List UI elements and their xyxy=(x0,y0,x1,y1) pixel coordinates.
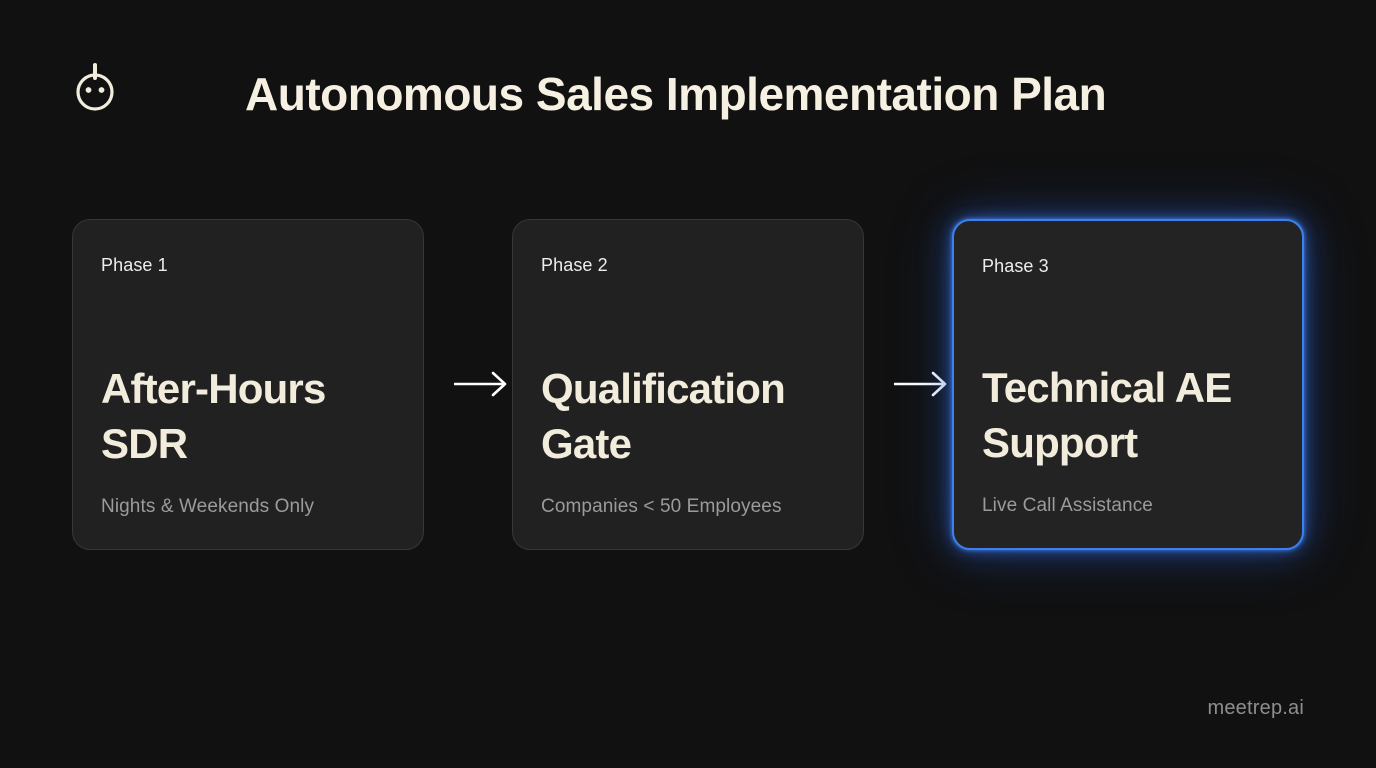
slide-root: Autonomous Sales Implementation Plan Pha… xyxy=(0,0,1376,768)
phase-label: Phase 2 xyxy=(541,254,835,276)
arrow-right-icon xyxy=(452,369,512,399)
arrow-right-icon xyxy=(892,369,952,399)
phase-subtitle: Companies < 50 Employees xyxy=(541,495,835,519)
phase-flow: Phase 1 After-Hours SDR Nights & Weekend… xyxy=(72,219,1304,550)
page-title: Autonomous Sales Implementation Plan xyxy=(245,63,1106,125)
phase-card-1[interactable]: Phase 1 After-Hours SDR Nights & Weekend… xyxy=(72,219,424,550)
phase-title: Technical AE Support xyxy=(982,360,1274,470)
phase-card-2[interactable]: Phase 2 Qualification Gate Companies < 5… xyxy=(512,219,864,550)
brand-watermark: meetrep.ai xyxy=(1208,696,1305,720)
robot-face-icon xyxy=(70,60,120,112)
phase-subtitle: Nights & Weekends Only xyxy=(101,495,395,519)
phase-card-3[interactable]: Phase 3 Technical AE Support Live Call A… xyxy=(952,219,1304,550)
phase-label: Phase 3 xyxy=(982,255,1274,277)
phase-subtitle: Live Call Assistance xyxy=(982,494,1274,518)
phase-label: Phase 1 xyxy=(101,254,395,276)
phase-title: After-Hours SDR xyxy=(101,361,395,471)
slide-header: Autonomous Sales Implementation Plan xyxy=(0,0,1376,190)
phase-title: Qualification Gate xyxy=(541,361,835,471)
